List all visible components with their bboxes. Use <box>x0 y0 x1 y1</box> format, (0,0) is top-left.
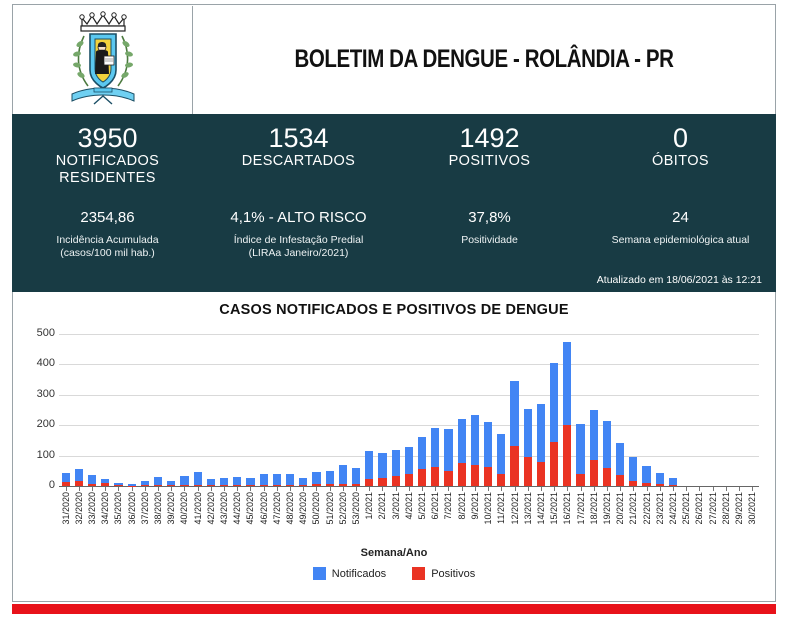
chart-bar <box>642 466 650 486</box>
chart-bar-slot <box>125 334 138 486</box>
chart-bar <box>352 468 360 486</box>
x-axis-tick: 53/2020 <box>349 492 362 546</box>
x-axis-tick-mark <box>501 487 502 491</box>
bar-segment-notificados <box>616 443 624 475</box>
chart-bar <box>656 473 664 486</box>
stat-value: 1534 <box>203 123 394 153</box>
bar-segment-notificados <box>154 477 162 486</box>
chart-bar <box>603 421 611 486</box>
bar-segment-positivos <box>365 479 373 486</box>
x-axis-tick: 5/2021 <box>415 492 428 546</box>
bar-segment-notificados <box>62 473 70 482</box>
bar-segment-positivos <box>669 485 677 486</box>
bar-segment-positivos <box>378 478 386 487</box>
x-axis-tick-label: 30/2021 <box>747 492 757 525</box>
chart-bar <box>62 473 70 486</box>
x-axis-tick-mark <box>277 487 278 491</box>
x-axis-tick: 23/2021 <box>653 492 666 546</box>
chart-title: CASOS NOTIFICADOS E POSITIVOS DE DENGUE <box>13 302 775 318</box>
x-axis-tick: 16/2021 <box>561 492 574 546</box>
chart-bar <box>101 479 109 486</box>
chart-bar <box>392 450 400 486</box>
stat-obitos: 0 ÓBITOS 24 Semana epidemiológica atual <box>585 114 776 292</box>
chart-bar-slot <box>270 334 283 486</box>
chart-bar-slot <box>99 334 112 486</box>
bar-segment-positivos <box>180 485 188 486</box>
bar-segment-notificados <box>524 409 532 458</box>
x-axis-tick-label: 51/2020 <box>325 492 335 525</box>
x-axis-tick-label: 12/2021 <box>510 492 520 525</box>
bar-segment-notificados <box>207 479 215 486</box>
bar-segment-notificados <box>246 478 254 486</box>
chart-bar-slot <box>191 334 204 486</box>
bar-segment-notificados <box>458 419 466 463</box>
chart-bar-slot <box>112 334 125 486</box>
x-axis-tick-label: 10/2021 <box>483 492 493 525</box>
x-axis-tick-label: 36/2020 <box>127 492 137 525</box>
bar-segment-positivos <box>656 484 664 486</box>
x-axis-tick-mark <box>303 487 304 491</box>
stat-sub-line1: Positividade <box>394 234 585 247</box>
stat-caption-line1: NOTIFICADOS <box>12 153 203 170</box>
x-axis-tick: 9/2021 <box>468 492 481 546</box>
x-axis-tick-label: 18/2021 <box>589 492 599 525</box>
bar-segment-notificados <box>312 472 320 484</box>
stat-sub-line1: Semana epidemiológica atual <box>585 234 776 247</box>
x-axis-tick-mark <box>594 487 595 491</box>
x-axis-tick: 11/2021 <box>495 492 508 546</box>
stat-positivos: 1492 POSITIVOS 37,8% Positividade <box>394 114 585 292</box>
bar-segment-positivos <box>537 462 545 486</box>
legend-swatch-notificados <box>313 567 326 580</box>
x-axis-tick-mark <box>369 487 370 491</box>
chart-bar <box>471 415 479 486</box>
chart-panel: CASOS NOTIFICADOS E POSITIVOS DE DENGUE … <box>12 292 776 602</box>
bar-segment-positivos <box>497 474 505 486</box>
x-axis-tick-mark <box>356 487 357 491</box>
chart-bar <box>154 477 162 486</box>
chart-bar-slot <box>336 334 349 486</box>
x-axis-tick: 36/2020 <box>125 492 138 546</box>
x-axis-tick-label: 39/2020 <box>166 492 176 525</box>
bar-segment-notificados <box>563 342 571 426</box>
bar-segment-positivos <box>233 485 241 486</box>
x-axis-tick-mark <box>382 487 383 491</box>
x-axis-tick-label: 22/2021 <box>642 492 652 525</box>
y-axis-tick-label: 400 <box>15 357 55 369</box>
x-axis-tick-mark <box>184 487 185 491</box>
x-axis-tick: 15/2021 <box>548 492 561 546</box>
bar-segment-positivos <box>312 484 320 486</box>
x-axis-tick-mark <box>330 487 331 491</box>
x-axis-tick-label: 8/2021 <box>457 492 467 520</box>
x-axis-tick-mark <box>264 487 265 491</box>
y-axis-tick-label: 300 <box>15 388 55 400</box>
chart-bar <box>510 381 518 486</box>
x-axis-tick-label: 50/2020 <box>311 492 321 525</box>
chart-bar-slot <box>310 334 323 486</box>
chart-bar <box>365 451 373 486</box>
chart-x-axis-title: Semana/Ano <box>13 547 775 559</box>
chart-bar-slot <box>415 334 428 486</box>
x-axis-tick: 39/2020 <box>165 492 178 546</box>
x-axis-tick-mark <box>224 487 225 491</box>
bar-segment-positivos <box>273 485 281 486</box>
bar-segment-positivos <box>590 460 598 486</box>
chart-bar-slot <box>693 334 706 486</box>
chart-bar <box>537 404 545 486</box>
stat-value: 3950 <box>12 123 203 153</box>
stat-caption-line2 <box>203 170 394 187</box>
chart-bar <box>114 483 122 486</box>
bar-segment-notificados <box>286 474 294 484</box>
x-axis-tick-label: 16/2021 <box>562 492 572 525</box>
chart-bar-slot <box>746 334 759 486</box>
x-axis-tick: 49/2020 <box>297 492 310 546</box>
chart-bar-slot <box>72 334 85 486</box>
bar-segment-notificados <box>444 429 452 471</box>
stat-secondary: 2354,86 <box>12 209 203 227</box>
legend-swatch-positivos <box>412 567 425 580</box>
bar-segment-positivos <box>405 474 413 486</box>
x-axis-tick-mark <box>92 487 93 491</box>
bar-segment-notificados <box>431 428 439 467</box>
chart-bar-slot <box>574 334 587 486</box>
x-axis-tick-mark <box>633 487 634 491</box>
x-axis-tick-mark <box>699 487 700 491</box>
stat-sub-line1: Índice de Infestação Predial <box>203 234 394 247</box>
bar-segment-notificados <box>537 404 545 462</box>
chart-bar-slot <box>719 334 732 486</box>
x-axis-tick: 34/2020 <box>99 492 112 546</box>
stat-value: 1492 <box>394 123 585 153</box>
chart-bar <box>141 481 149 486</box>
chart-bar <box>180 476 188 486</box>
chart-bar <box>299 478 307 486</box>
x-axis-tick-mark <box>422 487 423 491</box>
bottom-accent-bar <box>12 604 776 614</box>
bar-segment-positivos <box>616 475 624 486</box>
chart-bar <box>458 419 466 486</box>
x-axis-tick: 29/2021 <box>732 492 745 546</box>
chart-bar <box>260 474 268 486</box>
chart-bar-slot <box>706 334 719 486</box>
x-axis-tick-label: 42/2020 <box>206 492 216 525</box>
bar-segment-notificados <box>629 457 637 480</box>
bar-segment-positivos <box>114 485 122 486</box>
page-header: BOLETIM DA DENGUE - ROLÂNDIA - PR <box>12 4 776 114</box>
x-axis-tick: 20/2021 <box>614 492 627 546</box>
bar-segment-positivos <box>101 483 109 486</box>
x-axis-tick-label: 48/2020 <box>285 492 295 525</box>
x-axis-tick-label: 31/2020 <box>61 492 71 525</box>
stat-sub-line2: (casos/100 mil hab.) <box>12 247 203 260</box>
x-axis-tick-mark <box>171 487 172 491</box>
bar-segment-notificados <box>299 478 307 485</box>
x-axis-tick: 50/2020 <box>310 492 323 546</box>
x-axis-tick-label: 15/2021 <box>549 492 559 525</box>
chart-bar <box>233 477 241 486</box>
x-axis-tick: 12/2021 <box>508 492 521 546</box>
chart-bar-slot <box>455 334 468 486</box>
chart-bar-slot <box>614 334 627 486</box>
chart-bar-slot <box>151 334 164 486</box>
x-axis-tick-label: 46/2020 <box>259 492 269 525</box>
x-axis-tick-label: 32/2020 <box>74 492 84 525</box>
x-axis-tick-label: 2/2021 <box>377 492 387 520</box>
x-axis-tick: 41/2020 <box>191 492 204 546</box>
x-axis-tick-label: 33/2020 <box>87 492 97 525</box>
x-axis-tick: 6/2021 <box>429 492 442 546</box>
x-axis-tick: 51/2020 <box>323 492 336 546</box>
chart-bar-slot <box>178 334 191 486</box>
x-axis-tick-mark <box>647 487 648 491</box>
x-axis-tick: 4/2021 <box>402 492 415 546</box>
bar-segment-positivos <box>260 485 268 486</box>
bar-segment-notificados <box>656 473 664 484</box>
bar-segment-positivos <box>141 485 149 486</box>
stat-caption-line2 <box>394 170 585 187</box>
chart-bar <box>273 474 281 486</box>
chart-legend: Notificados Positivos <box>13 567 775 580</box>
bar-segment-notificados <box>365 451 373 479</box>
x-axis-tick-label: 14/2021 <box>536 492 546 525</box>
x-axis-tick-label: 7/2021 <box>443 492 453 520</box>
coat-of-arms-icon <box>64 8 142 112</box>
x-axis-tick: 7/2021 <box>442 492 455 546</box>
stat-caption-line1: ÓBITOS <box>585 153 776 170</box>
chart-bar <box>405 446 413 486</box>
stat-caption-line1: DESCARTADOS <box>203 153 394 170</box>
x-axis-tick-label: 4/2021 <box>404 492 414 520</box>
x-axis-tick-mark <box>158 487 159 491</box>
x-axis-tick: 48/2020 <box>283 492 296 546</box>
chart-bar-slot <box>204 334 217 486</box>
x-axis-tick-label: 40/2020 <box>179 492 189 525</box>
x-axis-tick: 52/2020 <box>336 492 349 546</box>
x-axis-tick-label: 21/2021 <box>628 492 638 525</box>
chart-bar <box>378 453 386 486</box>
bar-segment-notificados <box>220 478 228 485</box>
x-axis-tick: 42/2020 <box>204 492 217 546</box>
x-axis-tick: 17/2021 <box>574 492 587 546</box>
x-axis-tick-mark <box>237 487 238 491</box>
legend-label-positivos: Positivos <box>431 568 475 580</box>
x-axis-tick: 47/2020 <box>270 492 283 546</box>
bar-segment-positivos <box>444 471 452 486</box>
x-axis-tick-mark <box>250 487 251 491</box>
y-axis-tick-label: 100 <box>15 449 55 461</box>
chart-bar <box>75 469 83 486</box>
chart-bar <box>220 478 228 486</box>
bar-segment-notificados <box>75 469 83 481</box>
chart-bar-slot <box>561 334 574 486</box>
dengue-bulletin-dashboard: BOLETIM DA DENGUE - ROLÂNDIA - PR 3950 N… <box>0 0 788 630</box>
x-axis-tick-label: 24/2021 <box>668 492 678 525</box>
x-axis-tick-mark <box>607 487 608 491</box>
x-axis-tick: 24/2021 <box>666 492 679 546</box>
chart-bar <box>431 428 439 486</box>
x-axis-tick-mark <box>66 487 67 491</box>
chart-bar-slot <box>85 334 98 486</box>
x-axis-tick-mark <box>105 487 106 491</box>
chart-bar <box>563 342 571 486</box>
x-axis-tick: 13/2021 <box>521 492 534 546</box>
x-axis-tick-label: 1/2021 <box>364 492 374 520</box>
chart-bar-slot <box>217 334 230 486</box>
x-axis-tick-mark <box>462 487 463 491</box>
chart-bar <box>497 434 505 486</box>
bar-segment-positivos <box>154 485 162 486</box>
x-axis-tick: 44/2020 <box>231 492 244 546</box>
x-axis-tick-mark <box>79 487 80 491</box>
bar-segment-positivos <box>629 481 637 486</box>
stat-secondary: 4,1% - ALTO RISCO <box>203 209 394 227</box>
x-axis-tick-mark <box>343 487 344 491</box>
x-axis-tick-label: 6/2021 <box>430 492 440 520</box>
x-axis-tick: 27/2021 <box>706 492 719 546</box>
x-axis-tick-label: 11/2021 <box>496 492 506 524</box>
chart-bar <box>524 408 532 486</box>
x-axis-tick-label: 53/2020 <box>351 492 361 525</box>
x-axis-tick: 43/2020 <box>217 492 230 546</box>
bar-segment-positivos <box>352 484 360 486</box>
chart-bar-slot <box>231 334 244 486</box>
bar-segment-positivos <box>576 474 584 486</box>
chart-bar-slot <box>521 334 534 486</box>
chart-bar-slot <box>587 334 600 486</box>
x-axis-tick: 8/2021 <box>455 492 468 546</box>
chart-bar <box>246 478 254 486</box>
x-axis-tick: 2/2021 <box>376 492 389 546</box>
bar-segment-positivos <box>75 481 83 486</box>
x-axis-tick: 37/2020 <box>138 492 151 546</box>
page-title: BOLETIM DA DENGUE - ROLÂNDIA - PR <box>245 45 722 74</box>
x-axis-tick: 45/2020 <box>244 492 257 546</box>
x-axis-tick-label: 28/2021 <box>721 492 731 525</box>
y-axis-tick-label: 0 <box>15 479 55 491</box>
x-axis-tick-label: 27/2021 <box>708 492 718 525</box>
bar-segment-positivos <box>246 485 254 486</box>
x-axis-tick-label: 41/2020 <box>193 492 203 525</box>
bar-segment-positivos <box>88 484 96 486</box>
bar-segment-notificados <box>260 474 268 485</box>
chart-bars <box>59 334 759 486</box>
x-axis-tick-mark <box>673 487 674 491</box>
chart-bar-slot <box>323 334 336 486</box>
chart-bar-slot <box>165 334 178 486</box>
chart-bar <box>88 475 96 486</box>
bar-segment-notificados <box>418 437 426 469</box>
bar-segment-notificados <box>484 422 492 467</box>
bar-segment-positivos <box>392 476 400 486</box>
chart-bar <box>444 429 452 486</box>
x-axis-tick-mark <box>290 487 291 491</box>
x-axis-tick-mark <box>686 487 687 491</box>
stat-descartados: 1534 DESCARTADOS 4,1% - ALTO RISCO Índic… <box>203 114 394 292</box>
bar-segment-positivos <box>563 425 571 486</box>
x-axis-tick-label: 25/2021 <box>681 492 691 525</box>
chart-bar-slot <box>297 334 310 486</box>
x-axis-tick: 26/2021 <box>693 492 706 546</box>
bar-segment-positivos <box>642 483 650 486</box>
x-axis-tick-label: 49/2020 <box>298 492 308 525</box>
bar-segment-positivos <box>418 469 426 486</box>
legend-item-notificados: Notificados <box>313 567 386 580</box>
chart-bar-slot <box>363 334 376 486</box>
y-axis-tick-label: 200 <box>15 418 55 430</box>
chart-bar-slot <box>640 334 653 486</box>
bar-segment-positivos <box>62 482 70 486</box>
x-axis-tick-mark <box>132 487 133 491</box>
chart-bar-slot <box>257 334 270 486</box>
bar-segment-notificados <box>88 475 96 483</box>
x-axis-tick-label: 9/2021 <box>470 492 480 520</box>
crest-cell <box>13 6 193 114</box>
bar-segment-notificados <box>392 450 400 477</box>
chart-bar-slot <box>138 334 151 486</box>
x-axis-tick-mark <box>726 487 727 491</box>
chart-bar <box>669 478 677 486</box>
x-axis-tick-mark <box>118 487 119 491</box>
chart-bar-slot <box>600 334 613 486</box>
bar-segment-notificados <box>194 472 202 485</box>
chart-bar-slot <box>59 334 72 486</box>
x-axis-tick: 18/2021 <box>587 492 600 546</box>
stat-secondary: 37,8% <box>394 209 585 227</box>
x-axis-tick: 21/2021 <box>627 492 640 546</box>
x-axis-tick-label: 43/2020 <box>219 492 229 525</box>
bar-segment-notificados <box>339 465 347 483</box>
chart-bar-slot <box>666 334 679 486</box>
x-axis-tick-mark <box>316 487 317 491</box>
chart-bar <box>418 437 426 486</box>
bar-segment-notificados <box>550 363 558 442</box>
bar-segment-positivos <box>167 485 175 486</box>
stat-sub-line1: Incidência Acumulada <box>12 234 203 247</box>
chart-bar-slot <box>389 334 402 486</box>
bar-segment-notificados <box>326 471 334 484</box>
bar-segment-positivos <box>339 484 347 486</box>
x-axis-tick-label: 44/2020 <box>232 492 242 525</box>
chart-bar-slot <box>442 334 455 486</box>
x-axis-tick: 35/2020 <box>112 492 125 546</box>
x-axis-tick-label: 35/2020 <box>113 492 123 525</box>
chart-bar-slot <box>482 334 495 486</box>
x-axis-tick-label: 29/2021 <box>734 492 744 525</box>
x-axis-tick-mark <box>475 487 476 491</box>
x-axis-tick-mark <box>435 487 436 491</box>
chart-bar <box>207 479 215 486</box>
chart-bar-slot <box>283 334 296 486</box>
stat-sub-line2: (LIRAa Janeiro/2021) <box>203 247 394 260</box>
legend-item-positivos: Positivos <box>412 567 475 580</box>
bar-segment-notificados <box>497 434 505 474</box>
x-axis-tick-mark <box>515 487 516 491</box>
bar-segment-positivos <box>484 467 492 486</box>
x-axis-tick-label: 13/2021 <box>523 492 533 525</box>
x-axis-tick: 46/2020 <box>257 492 270 546</box>
x-axis-tick-mark <box>528 487 529 491</box>
chart-bar-slot <box>402 334 415 486</box>
chart-bar <box>286 474 294 486</box>
x-axis-tick: 3/2021 <box>389 492 402 546</box>
x-axis-tick: 30/2021 <box>746 492 759 546</box>
x-axis-tick-mark <box>198 487 199 491</box>
x-axis-tick: 14/2021 <box>534 492 547 546</box>
last-updated-text: Atualizado em 18/06/2021 às 12:21 <box>597 274 762 286</box>
bar-segment-notificados <box>603 421 611 468</box>
